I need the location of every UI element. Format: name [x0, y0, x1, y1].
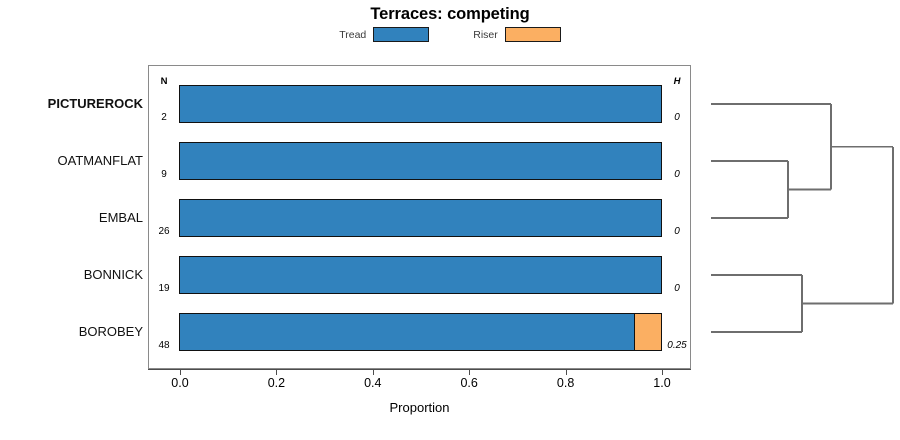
x-tick-label: 0.2 — [251, 376, 301, 390]
x-tick — [469, 369, 470, 375]
plot-panel — [148, 65, 691, 369]
n-value: 48 — [148, 340, 180, 351]
h-column: H00000.25 — [662, 65, 692, 369]
x-axis-title: Proportion — [148, 400, 691, 415]
legend-item-tread[interactable]: Tread — [339, 27, 429, 42]
dendrogram-panel — [702, 65, 900, 369]
n-column: N29261948 — [148, 65, 180, 369]
x-tick — [566, 369, 567, 375]
legend-label-riser: Riser — [473, 29, 498, 41]
category-label: BOROBEY — [3, 324, 143, 339]
h-value: 0 — [662, 283, 692, 294]
h-column-header: H — [662, 76, 692, 87]
n-value: 19 — [148, 283, 180, 294]
h-value: 0 — [662, 169, 692, 180]
x-tick — [373, 369, 374, 375]
x-tick-label: 0.0 — [155, 376, 205, 390]
x-axis-line — [148, 369, 691, 370]
x-tick-label: 1.0 — [637, 376, 687, 390]
x-tick-label: 0.8 — [541, 376, 591, 390]
category-label: BONNICK — [3, 267, 143, 282]
h-value: 0 — [662, 226, 692, 237]
n-value: 26 — [148, 226, 180, 237]
x-tick — [662, 369, 663, 375]
category-label: PICTUREROCK — [3, 96, 143, 111]
category-labels: PICTUREROCKOATMANFLATEMBALBONNICKBOROBEY — [0, 65, 143, 369]
chart-root: Terraces: competing Tread Riser PICTURER… — [0, 0, 900, 440]
x-tick — [276, 369, 277, 375]
legend-label-tread: Tread — [339, 29, 366, 41]
legend-item-riser[interactable]: Riser — [473, 27, 561, 42]
n-value: 9 — [148, 169, 180, 180]
x-tick-label: 0.4 — [348, 376, 398, 390]
category-label: EMBAL — [3, 210, 143, 225]
chart-legend: Tread Riser — [0, 27, 900, 42]
dendrogram-svg — [702, 65, 900, 369]
x-tick — [180, 369, 181, 375]
n-value: 2 — [148, 112, 180, 123]
x-tick-label: 0.6 — [444, 376, 494, 390]
h-value: 0 — [662, 112, 692, 123]
category-label: OATMANFLAT — [3, 153, 143, 168]
legend-swatch-tread — [373, 27, 429, 42]
chart-title: Terraces: competing — [0, 5, 900, 24]
legend-swatch-riser — [505, 27, 561, 42]
h-value: 0.25 — [662, 340, 692, 351]
n-column-header: N — [148, 76, 180, 87]
